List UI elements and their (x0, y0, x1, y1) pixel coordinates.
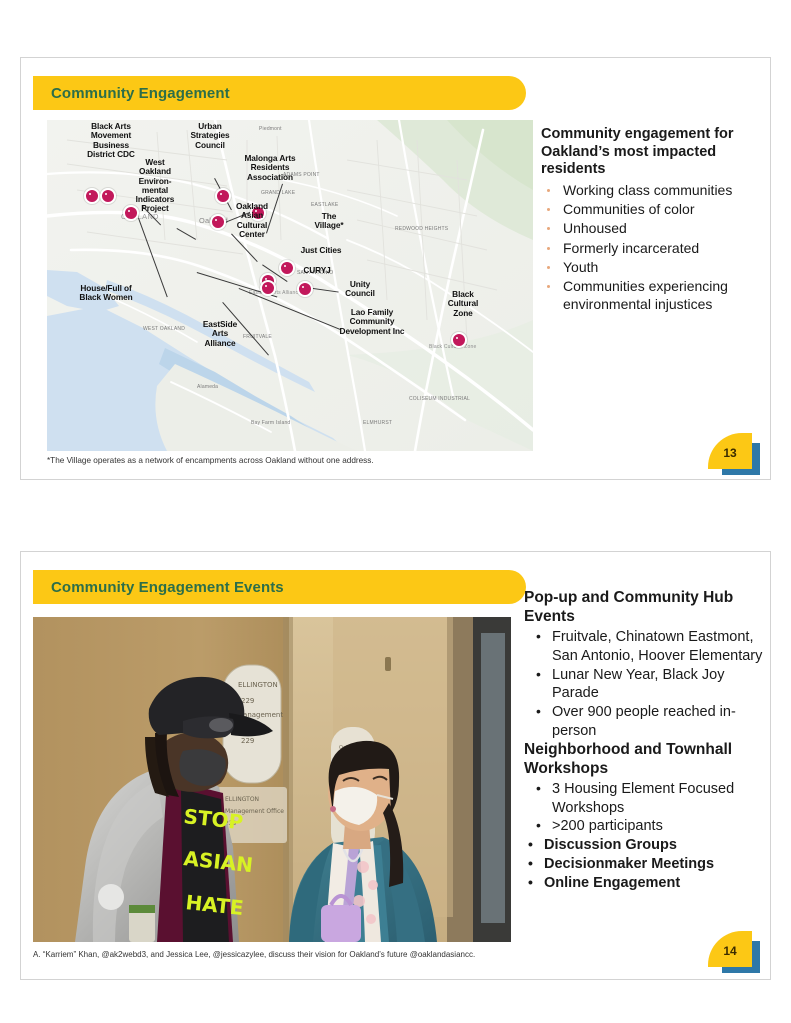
map-label-the-village: The Village* (309, 212, 349, 231)
map-label-curyj: CURYJ (295, 266, 339, 275)
slide-14-bullet-list-1: Fruitvale, Chinatown Eastmont, San Anton… (524, 628, 771, 741)
map-place-elmhurst: ELMHURST (363, 420, 392, 426)
document-page: Community Engagement (0, 0, 791, 1023)
map-place-eastlake: EASTLAKE (311, 202, 338, 208)
list-item: Discussion Groups (524, 836, 771, 855)
list-item: Unhoused (541, 219, 771, 237)
slide-14-right-column: Pop-up and Community Hub Events Fruitval… (524, 589, 771, 893)
list-item: Decisionmaker Meetings (524, 855, 771, 874)
slide-14-bullet-list-3: Discussion Groups Decisionmaker Meetings… (524, 836, 771, 893)
list-item: Communities experiencing environmental i… (541, 277, 771, 313)
map-label-just-cities: Just Cities (293, 246, 349, 255)
list-item: Formerly incarcerated (541, 239, 771, 257)
map-place-coliseum-industrial: COLISEUM INDUSTRIAL (409, 396, 470, 402)
list-item: >200 participants (524, 817, 771, 836)
slide-14-page-badge: 14 (708, 931, 760, 973)
list-item: Working class communities (541, 181, 771, 199)
page-number: 13 (708, 433, 752, 469)
slide-13-right-column: Community engagement for Oakland’s most … (541, 126, 771, 314)
map-pin-10[interactable] (297, 281, 313, 297)
map-pin-7[interactable] (279, 260, 295, 276)
list-item: Fruitvale, Chinatown Eastmont, San Anton… (524, 628, 771, 666)
list-item: Over 900 people reached in-person (524, 703, 771, 741)
map-label-west-oakland-environmental-indicators-project: West Oakland Environ- mental Indicators … (127, 158, 183, 214)
slide-14-heading-1: Pop-up and Community Hub Events (524, 589, 771, 627)
map-label-malonga-arts-residents-association: Malonga Arts Residents Association (233, 154, 307, 182)
list-item: Youth (541, 258, 771, 276)
slide-13-bullet-list: Working class communities Communities of… (541, 181, 771, 313)
map-pin-6[interactable] (210, 214, 226, 230)
map-label-house-full-of-black-women: House/Full of Black Women (65, 284, 147, 303)
photo-caption: A. “Karriem” Khan, @ak2webd3, and Jessic… (33, 950, 475, 959)
slide-13: Community Engagement (20, 57, 771, 480)
map-label-urban-strategies-council: Urban Strategies Council (179, 122, 241, 150)
map-pin-2[interactable] (100, 188, 116, 204)
slide-14: Community Engagement Events (20, 551, 771, 980)
map-footnote: *The Village operates as a network of en… (47, 456, 374, 465)
svg-text:ELLINGTON: ELLINGTON (238, 681, 278, 689)
map-place-alameda: Alameda (197, 384, 218, 390)
map-place-west-oakland: WEST OAKLAND (143, 326, 185, 332)
map-label-lao-family-community-development-inc: Lao Family Community Development Inc (329, 308, 415, 336)
map-place-fruitvale: FRUITVALE (243, 334, 272, 340)
map-pin-9[interactable] (260, 280, 276, 296)
map-label-unity-council: Unity Council (337, 280, 383, 299)
slide-13-title-bar: Community Engagement (33, 76, 526, 110)
list-item: Communities of color (541, 200, 771, 218)
page-number: 14 (708, 931, 752, 967)
page-title: Community Engagement (51, 85, 230, 102)
map-place-bay-farm-island: Bay Farm Island (251, 420, 290, 426)
svg-text:ELLINGTON: ELLINGTON (225, 796, 259, 803)
map-label-eastside-arts-alliance: EastSide Arts Alliance (195, 320, 245, 348)
svg-text:229: 229 (241, 737, 254, 745)
slide-13-page-badge: 13 (708, 433, 760, 475)
slide-14-title-bar: Community Engagement Events (33, 570, 526, 604)
map-label-black-cultural-zone: Black Cultural Zone (439, 290, 487, 318)
map-place-redwood-heights: REDWOOD HEIGHTS (395, 226, 448, 232)
slide-14-bullet-list-2: 3 Housing Element Focused Workshops >200… (524, 780, 771, 837)
slide-14-heading-2: Neighborhood and Townhall Workshops (524, 741, 771, 779)
list-item: 3 Housing Element Focused Workshops (524, 780, 771, 818)
map-label-oakland-asian-cultural-center: Oakland Asian Cultural Center (227, 202, 277, 239)
slide-13-heading: Community engagement for Oakland’s most … (541, 126, 771, 179)
community-event-photo: ELLINGTON 229 Management Office 229 ELLI… (33, 617, 511, 942)
map-place-piedmont: Piedmont (259, 126, 282, 132)
list-item: Lunar New Year, Black Joy Parade (524, 666, 771, 704)
map-label-black-arts-movement-business-district-cdc: Black Arts Movement Business District CD… (75, 122, 147, 159)
map-pin-1[interactable] (84, 188, 100, 204)
map-pin-11[interactable] (451, 332, 467, 348)
list-item: Online Engagement (524, 874, 771, 893)
page-title: Community Engagement Events (51, 579, 284, 596)
oakland-partner-map: Piedmont GRAND LAKE OAKLAND Oakland ADAM… (47, 120, 533, 451)
